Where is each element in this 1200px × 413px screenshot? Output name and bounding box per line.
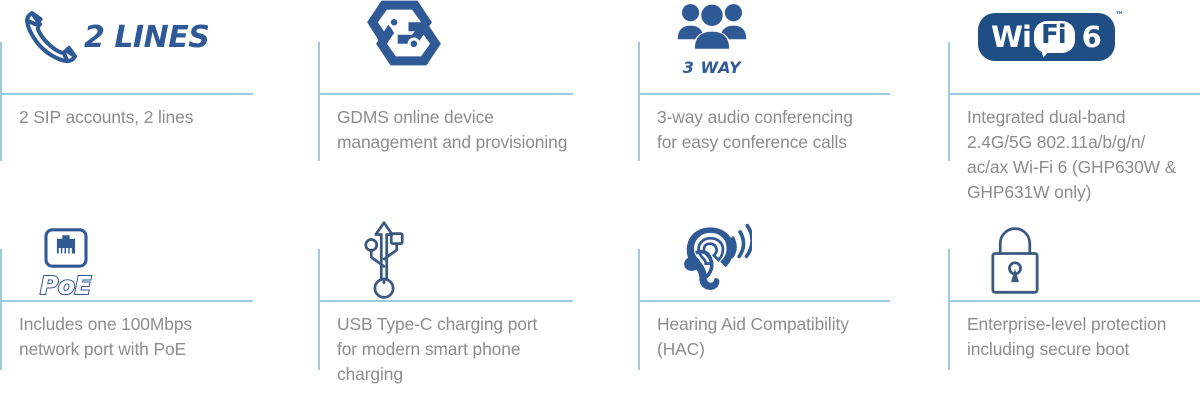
icon-zone: 2 LINES [18, 0, 268, 90]
vertical-rule [0, 42, 2, 161]
feature-cell-wifi6: Wi Fi 6 ™ Integrated dual-band 2.4G/5G 8… [948, 0, 1200, 206]
icon-zone [966, 227, 1200, 297]
feature-caption: USB Type-C charging port for modern smar… [337, 312, 577, 387]
vertical-rule [318, 249, 320, 370]
horizontal-rule [318, 93, 573, 95]
wifi-wi-label: Wi [991, 23, 1031, 52]
three-people-icon [676, 1, 748, 62]
vertical-rule [948, 249, 950, 370]
icon-zone [336, 227, 586, 297]
feature-caption: GDMS online device management and provis… [337, 105, 577, 155]
vertical-rule [948, 42, 950, 161]
icon-zone: Wi Fi 6 ™ [966, 0, 1200, 90]
vertical-rule [318, 42, 320, 161]
wifi-fi-label: Fi [1034, 21, 1075, 52]
two-lines-lockup: 2 LINES [18, 4, 209, 71]
feature-caption: Integrated dual-band 2.4G/5G 802.11a/b/g… [967, 105, 1200, 205]
wifi-badge-pill: Wi Fi 6 [978, 13, 1115, 61]
three-way-label: 3 WAY [683, 58, 741, 77]
horizontal-rule [0, 300, 253, 302]
poe-label: PoE [40, 271, 91, 300]
phone-handset-icon [18, 4, 80, 71]
vertical-rule [638, 42, 640, 161]
horizontal-rule [638, 93, 890, 95]
feature-row-2: PoE Includes one 100Mbps network port wi… [0, 207, 1200, 413]
horizontal-rule [0, 93, 253, 95]
feature-caption: Enterprise-level protection including se… [967, 312, 1200, 362]
ethernet-port-icon [44, 228, 88, 273]
feature-cell-poe: PoE Includes one 100Mbps network port wi… [0, 207, 302, 413]
horizontal-rule [948, 93, 1200, 95]
feature-grid: 2 LINES 2 SIP accounts, 2 lines [0, 0, 1200, 413]
poe-lockup: PoE [40, 228, 91, 300]
feature-cell-two-lines: 2 LINES 2 SIP accounts, 2 lines [0, 0, 302, 206]
feature-caption: 3-way audio conferencing for easy confer… [657, 105, 897, 155]
horizontal-rule [948, 300, 1200, 302]
two-lines-label: 2 LINES [84, 20, 209, 55]
feature-row-1: 2 LINES 2 SIP accounts, 2 lines [0, 0, 1200, 206]
feature-cell-usb-type-c: USB Type-C charging port for modern smar… [318, 207, 620, 413]
three-way-lockup: 3 WAY [676, 1, 748, 77]
icon-zone: 3 WAY [656, 0, 906, 90]
feature-cell-secure-boot: Enterprise-level protection including se… [948, 207, 1200, 413]
vertical-rule [0, 249, 2, 370]
feature-cell-hac: Hearing Aid Compatibility (HAC) [638, 207, 938, 413]
feature-cell-three-way: 3 WAY 3-way audio conferencing for easy … [638, 0, 938, 206]
icon-zone [336, 0, 586, 90]
usb-trident-icon [358, 219, 410, 306]
icon-zone: PoE [18, 227, 268, 297]
icon-zone [656, 227, 906, 297]
feature-cell-gdms: GDMS online device management and provis… [318, 0, 620, 206]
feature-caption: Hearing Aid Compatibility (HAC) [657, 312, 897, 362]
trademark-icon: ™ [1115, 11, 1124, 21]
feature-caption: Includes one 100Mbps network port with P… [19, 312, 259, 362]
hearing-aid-ear-icon [674, 222, 752, 303]
padlock-icon [988, 224, 1042, 301]
gdms-hexagon-icon [354, 0, 454, 74]
wifi-six-label: 6 [1082, 23, 1102, 52]
wifi-6-badge-icon: Wi Fi 6 ™ [978, 13, 1115, 61]
vertical-rule [638, 249, 640, 370]
horizontal-rule [318, 300, 573, 302]
feature-caption: 2 SIP accounts, 2 lines [19, 105, 259, 130]
